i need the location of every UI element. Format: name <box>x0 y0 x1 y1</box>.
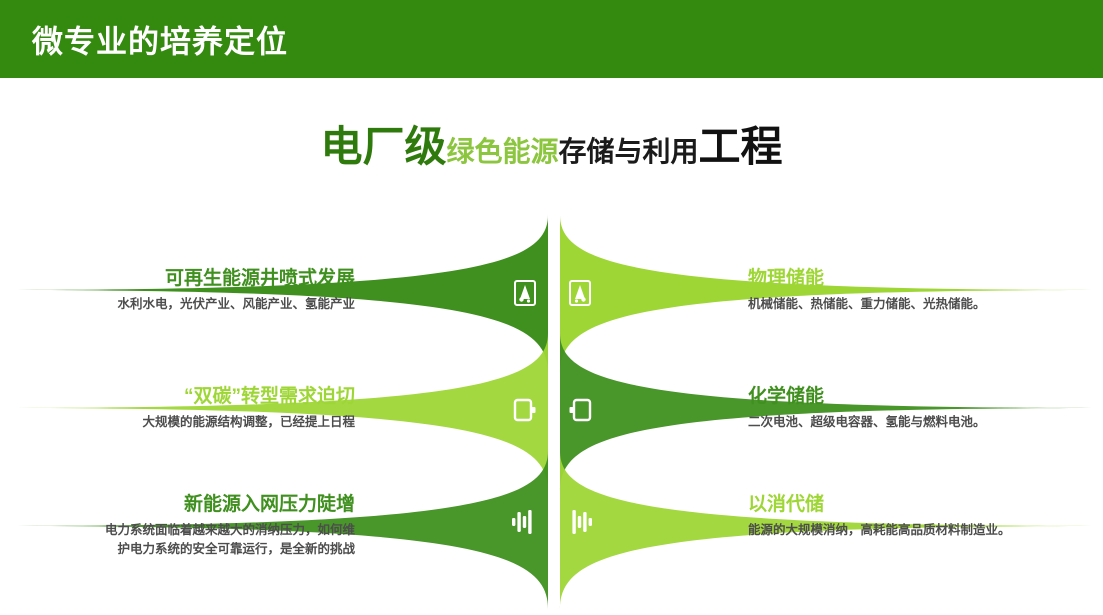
right-item-2: 化学储能 二次电池、超级电容器、氢能与燃料电池。 <box>748 386 1078 432</box>
right-item-3: 以消代储 能源的大规模消纳，高耗能高品质材料制造业。 <box>748 494 1078 540</box>
main-title: 电厂级绿色能源存储与利用工程 <box>0 126 1103 168</box>
battery-icon <box>567 395 593 425</box>
left-item-2-heading: “双碳”转型需求迫切 <box>25 386 355 409</box>
battery-icon-glyph <box>568 397 592 423</box>
waveform-icon <box>511 507 537 537</box>
battery-icon-glyph <box>513 397 537 423</box>
document-chart-icon <box>512 278 538 308</box>
right-item-2-subtext: 二次电池、超级电容器、氢能与燃料电池。 <box>748 413 1078 432</box>
left-item-1: 可再生能源井喷式发展 水利水电，光伏产业、风能产业、氢能产业 <box>25 268 355 314</box>
waveform-icon-glyph <box>567 508 593 536</box>
header-bar: 微专业的培养定位 <box>0 0 1103 78</box>
left-item-2-subtext: 大规模的能源结构调整，已经提上日程 <box>25 413 355 432</box>
main-title-segment-1: 电厂级 <box>320 126 446 168</box>
left-item-2: “双碳”转型需求迫切 大规模的能源结构调整，已经提上日程 <box>25 386 355 432</box>
left-item-1-heading: 可再生能源井喷式发展 <box>25 268 355 291</box>
right-item-1-subtext: 机械储能、热储能、重力储能、光热储能。 <box>748 295 1078 314</box>
left-item-3-subtext-line-2: 护电力系统的安全可靠运行，是全新的挑战 <box>25 540 355 559</box>
battery-icon <box>512 395 538 425</box>
right-item-3-heading: 以消代储 <box>748 494 1078 517</box>
left-item-3-subtext-line-1: 电力系统面临着越来越大的消纳压力，如何维 <box>25 521 355 540</box>
waveform-icon <box>567 507 593 537</box>
main-title-segment-2: 绿色能源 <box>446 138 558 166</box>
diagram: 可再生能源井喷式发展 水利水电，光伏产业、风能产业、氢能产业 “双碳”转型需求迫… <box>0 205 1103 615</box>
right-item-3-subtext: 能源的大规模消纳，高耗能高品质材料制造业。 <box>748 521 1078 540</box>
document-chart-icon <box>567 278 593 308</box>
left-item-3: 新能源入网压力陡增 电力系统面临着越来越大的消纳压力，如何维 护电力系统的安全可… <box>25 494 355 560</box>
main-title-segment-4: 工程 <box>699 126 783 168</box>
waveform-icon-glyph <box>511 508 537 536</box>
page-title: 微专业的培养定位 <box>32 17 288 62</box>
left-item-1-subtext: 水利水电，光伏产业、风能产业、氢能产业 <box>25 295 355 314</box>
right-item-2-heading: 化学储能 <box>748 386 1078 409</box>
left-item-3-heading: 新能源入网压力陡增 <box>25 494 355 517</box>
right-item-1: 物理储能 机械储能、热储能、重力储能、光热储能。 <box>748 268 1078 314</box>
main-title-segment-3: 存储与利用 <box>559 138 699 166</box>
right-item-1-heading: 物理储能 <box>748 268 1078 291</box>
document-chart-icon-glyph <box>514 280 536 306</box>
document-chart-icon-glyph <box>569 280 591 306</box>
